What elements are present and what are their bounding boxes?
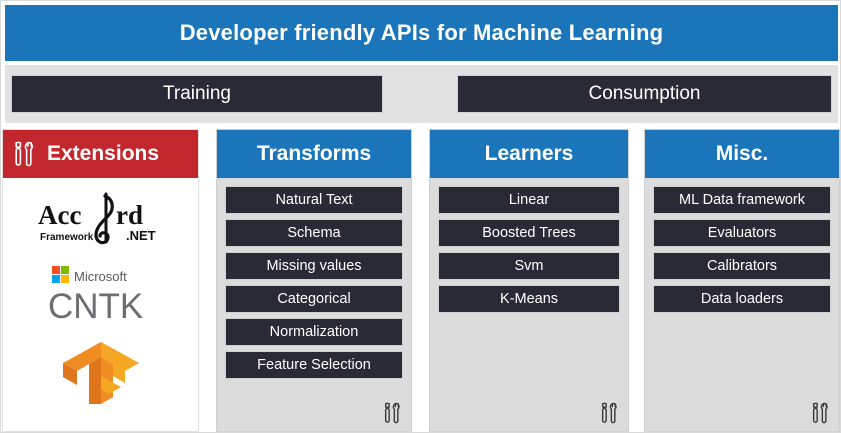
panel-misc-header: Misc. [645,130,839,178]
svg-text:CNTK: CNTK [48,287,143,326]
panel-transforms-title: Transforms [257,142,371,166]
svg-text:Acc: Acc [38,200,81,230]
panel-transforms: Transforms Natural Text Schema Missing v… [216,129,412,432]
banner-title-text: Developer friendly APIs for Machine Lear… [180,20,664,46]
list-item[interactable]: Boosted Trees [438,219,620,247]
panel-extensions-title: Extensions [47,142,159,166]
list-item[interactable]: Normalization [225,318,403,346]
list-item-label: Categorical [277,291,350,307]
microsoft-cntk-logo: Microsoft CNTK [26,260,176,328]
svg-text:rd: rd [116,200,143,230]
list-item-label: Linear [509,192,549,208]
tools-icon [600,401,620,425]
stage-pill-consumption-label: Consumption [589,83,701,105]
list-item[interactable]: Data loaders [653,285,831,313]
list-item-label: ML Data framework [679,192,805,208]
list-item-label: Normalization [270,324,359,340]
panel-misc-body: ML Data framework Evaluators Calibrators… [645,178,839,431]
list-item-label: Schema [287,225,340,241]
panel-learners-body: Linear Boosted Trees Svm K-Means [430,178,628,431]
panel-extensions: Extensions Acc rd Framework .NET [2,129,199,432]
panel-transforms-body: Natural Text Schema Missing values Categ… [217,178,411,431]
panel-learners-header: Learners [430,130,628,178]
list-item[interactable]: Natural Text [225,186,403,214]
tools-icon [811,401,831,425]
list-item[interactable]: Linear [438,186,620,214]
tools-icon [383,401,403,425]
list-item-label: Missing values [266,258,361,274]
list-item[interactable]: K-Means [438,285,620,313]
stage-band: Training Consumption [5,65,838,123]
panel-misc-title: Misc. [716,142,769,166]
panel-transforms-header: Transforms [217,130,411,178]
panel-extensions-header: Extensions [3,130,198,178]
list-item-label: Calibrators [707,258,777,274]
list-item-label: Boosted Trees [482,225,576,241]
list-item-label: Evaluators [708,225,777,241]
list-item[interactable]: Evaluators [653,219,831,247]
panel-misc: Misc. ML Data framework Evaluators Calib… [644,129,840,432]
list-item[interactable]: Missing values [225,252,403,280]
list-item[interactable]: Schema [225,219,403,247]
list-item-label: Natural Text [275,192,352,208]
list-item[interactable]: Feature Selection [225,351,403,379]
extensions-logo-list: Acc rd Framework .NET Microsoft C [3,178,198,431]
list-item-label: Svm [515,258,544,274]
svg-text:Microsoft: Microsoft [74,269,127,284]
list-item-label: Data loaders [701,291,783,307]
svg-text:.NET: .NET [126,228,156,243]
accord-net-logo: Acc rd Framework .NET [26,190,176,252]
banner-title: Developer friendly APIs for Machine Lear… [5,5,838,61]
stage-pill-training[interactable]: Training [11,75,383,113]
stage-pill-training-label: Training [163,83,231,105]
list-item[interactable]: Categorical [225,285,403,313]
tools-icon [13,141,37,167]
tensorflow-logo [55,338,147,408]
list-item[interactable]: ML Data framework [653,186,831,214]
list-item-label: K-Means [500,291,558,307]
panel-learners: Learners Linear Boosted Trees Svm K-Mean… [429,129,629,432]
diagram-canvas: Developer friendly APIs for Machine Lear… [0,0,841,433]
panel-learners-title: Learners [485,142,574,166]
list-item-label: Feature Selection [257,357,371,373]
stage-pill-consumption[interactable]: Consumption [457,75,832,113]
list-item[interactable]: Calibrators [653,252,831,280]
list-item[interactable]: Svm [438,252,620,280]
svg-text:Framework: Framework [40,232,94,243]
